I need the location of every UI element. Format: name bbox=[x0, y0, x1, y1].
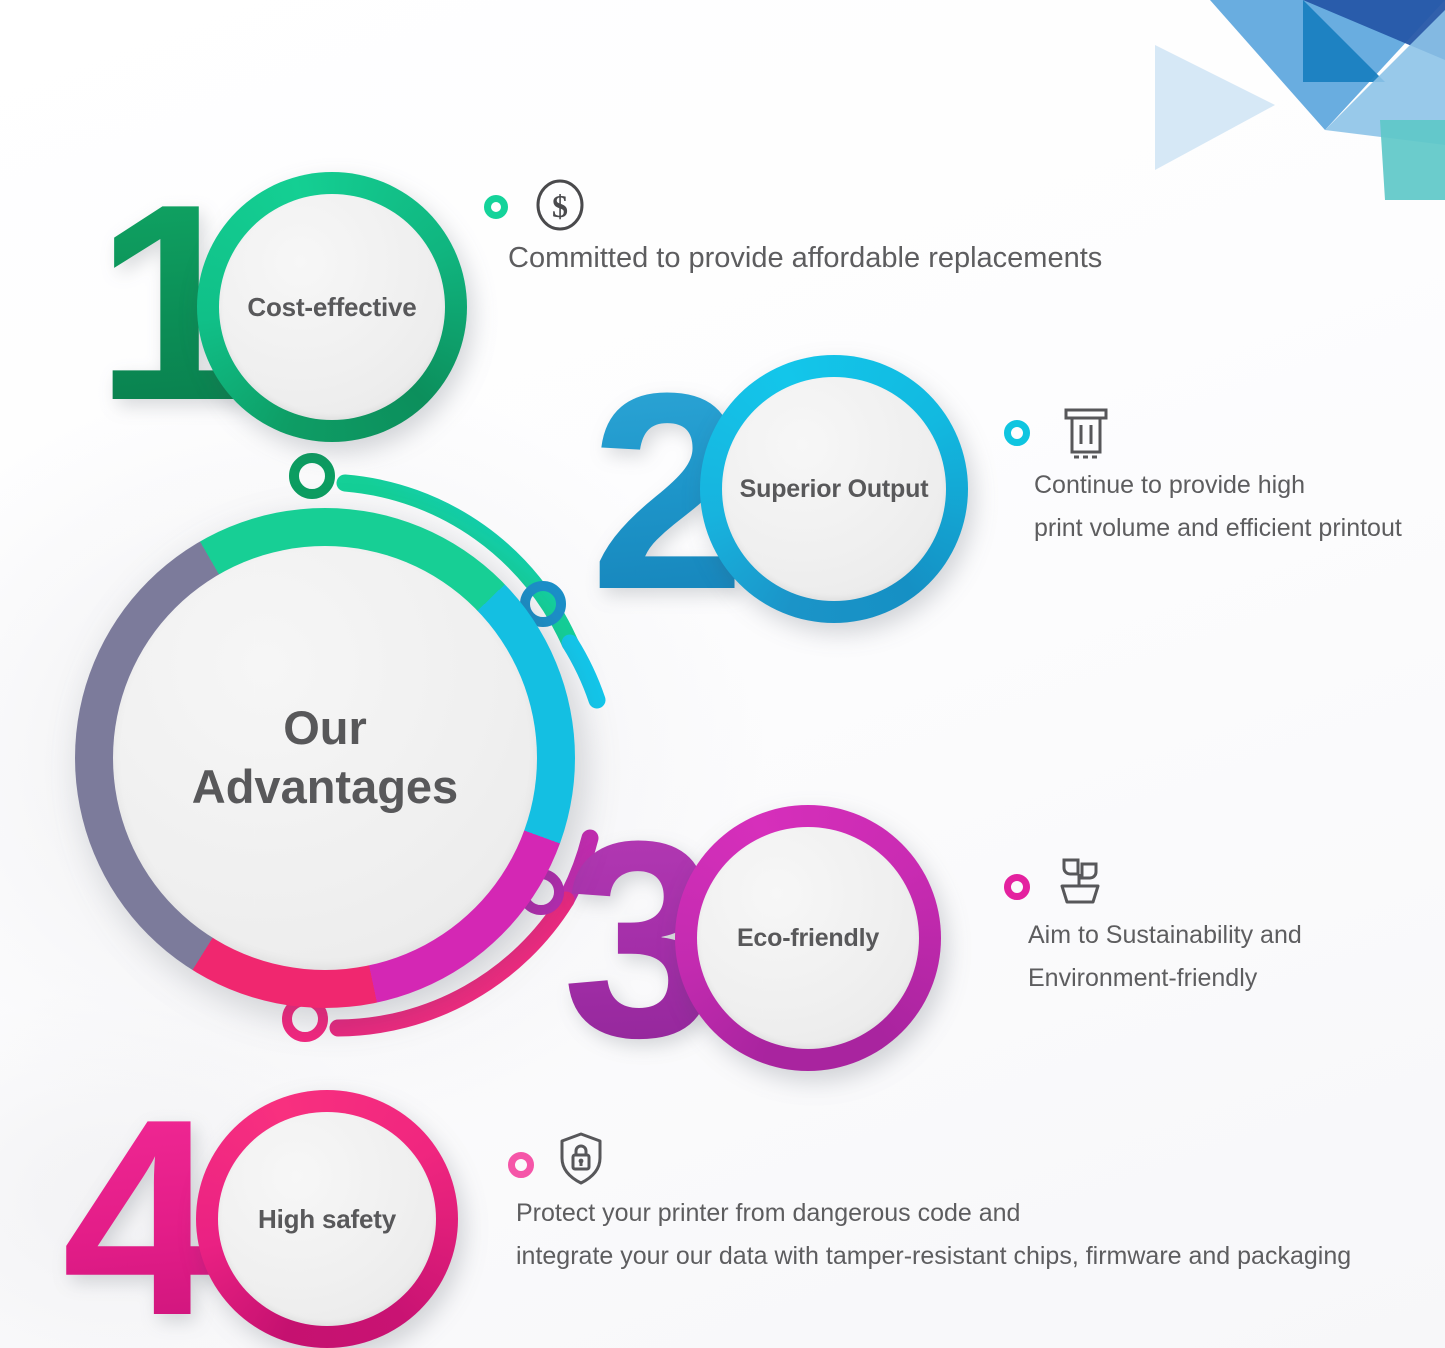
detail-line: Environment-friendly bbox=[1028, 957, 1302, 1000]
triangle-mid-blue bbox=[1303, 0, 1385, 82]
plant-pot-icon bbox=[1050, 852, 1108, 910]
detail-text-high-safety: Protect your printer from dangerous code… bbox=[516, 1192, 1351, 1278]
node-label-superior-output: Superior Output bbox=[740, 475, 929, 504]
detail-text-eco-friendly: Aim to Sustainability and Environment-fr… bbox=[1028, 914, 1302, 1000]
detail-line: Protect your printer from dangerous code… bbox=[516, 1192, 1351, 1235]
geometric-triangles-decoration bbox=[1085, 0, 1445, 200]
dollar-circle-icon: $ bbox=[534, 179, 586, 231]
bullet-dot-cyan bbox=[1004, 420, 1030, 446]
triangle-light-blue-large bbox=[1210, 0, 1445, 130]
detail-line: Committed to provide affordable replacem… bbox=[508, 237, 1102, 279]
bullet-dot-green bbox=[484, 195, 508, 219]
detail-cost-effective: $ Committed to provide affordable replac… bbox=[500, 185, 1102, 279]
node-cost-effective[interactable]: Cost-effective bbox=[197, 172, 467, 442]
shield-lock-icon bbox=[550, 1128, 612, 1190]
numeral-4: 4 bbox=[62, 1078, 218, 1348]
triangle-dark-blue bbox=[1303, 0, 1445, 60]
svg-text:$: $ bbox=[552, 188, 568, 224]
detail-line: integrate your our data with tamper-resi… bbox=[516, 1235, 1351, 1278]
detail-line: Aim to Sustainability and bbox=[1028, 914, 1302, 957]
triangle-pale-blue bbox=[1325, 10, 1445, 145]
detail-text-superior-output: Continue to provide high print volume an… bbox=[1034, 464, 1402, 550]
detail-line: Continue to provide high bbox=[1034, 464, 1402, 507]
node-label-high-safety: High safety bbox=[258, 1204, 396, 1235]
detail-text-cost-effective: Committed to provide affordable replacem… bbox=[508, 237, 1102, 279]
node-high-safety[interactable]: High safety bbox=[196, 1090, 458, 1348]
infographic-canvas: 1 2 3 4 Cost-effective Superior Output E… bbox=[0, 0, 1445, 1348]
node-label-eco-friendly: Eco-friendly bbox=[737, 924, 879, 953]
detail-line: print volume and efficient printout bbox=[1034, 507, 1402, 550]
bullet-dot-pink bbox=[508, 1152, 534, 1178]
detail-eco-friendly: Aim to Sustainability and Environment-fr… bbox=[998, 862, 1302, 1000]
node-eco-friendly[interactable]: Eco-friendly bbox=[675, 805, 941, 1071]
hub-our-advantages[interactable]: Our Advantages bbox=[75, 508, 575, 1008]
detail-high-safety: Protect your printer from dangerous code… bbox=[508, 1140, 1351, 1278]
hub-title-line2: Advantages bbox=[192, 758, 458, 817]
arc-connector-top-tail bbox=[570, 643, 597, 700]
connector-ring-green bbox=[294, 458, 330, 494]
hub-face: Our Advantages bbox=[113, 546, 537, 970]
node-superior-output[interactable]: Superior Output bbox=[700, 355, 968, 623]
printer-icon bbox=[1056, 402, 1116, 464]
node-label-cost-effective: Cost-effective bbox=[247, 292, 416, 323]
bullet-dot-magenta bbox=[1004, 874, 1030, 900]
detail-superior-output: Continue to provide high print volume an… bbox=[1000, 408, 1402, 550]
triangle-teal bbox=[1380, 120, 1445, 200]
triangle-very-pale bbox=[1155, 45, 1275, 170]
hub-title-line1: Our bbox=[283, 699, 367, 758]
